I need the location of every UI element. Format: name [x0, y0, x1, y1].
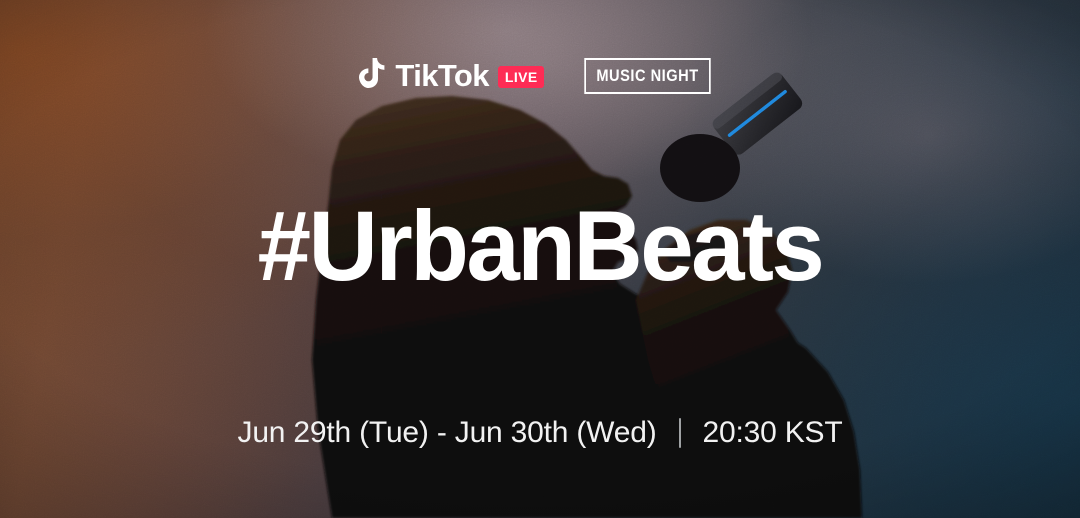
hashtag-title: #UrbanBeats — [16, 196, 1064, 295]
tiktok-note-icon — [359, 58, 386, 94]
schedule-separator — [679, 418, 681, 448]
brand-header: TikTok LIVE MUSIC NIGHT — [0, 58, 1080, 94]
tiktok-live-lockup[interactable]: TikTok LIVE — [359, 58, 543, 94]
tiktok-wordmark: TikTok — [395, 60, 488, 91]
live-badge: LIVE — [498, 66, 544, 88]
schedule-row: Jun 29th (Tue) - Jun 30th (Wed) 20:30 KS… — [0, 414, 1080, 452]
event-time: 20:30 KST — [703, 414, 843, 452]
live-event-banner: TikTok LIVE MUSIC NIGHT #UrbanBeats Jun … — [0, 0, 1080, 518]
event-dates: Jun 29th (Tue) - Jun 30th (Wed) — [238, 414, 657, 452]
music-night-badge-wrap: MUSIC NIGHT — [574, 58, 721, 94]
music-night-badge: MUSIC NIGHT — [584, 58, 710, 94]
